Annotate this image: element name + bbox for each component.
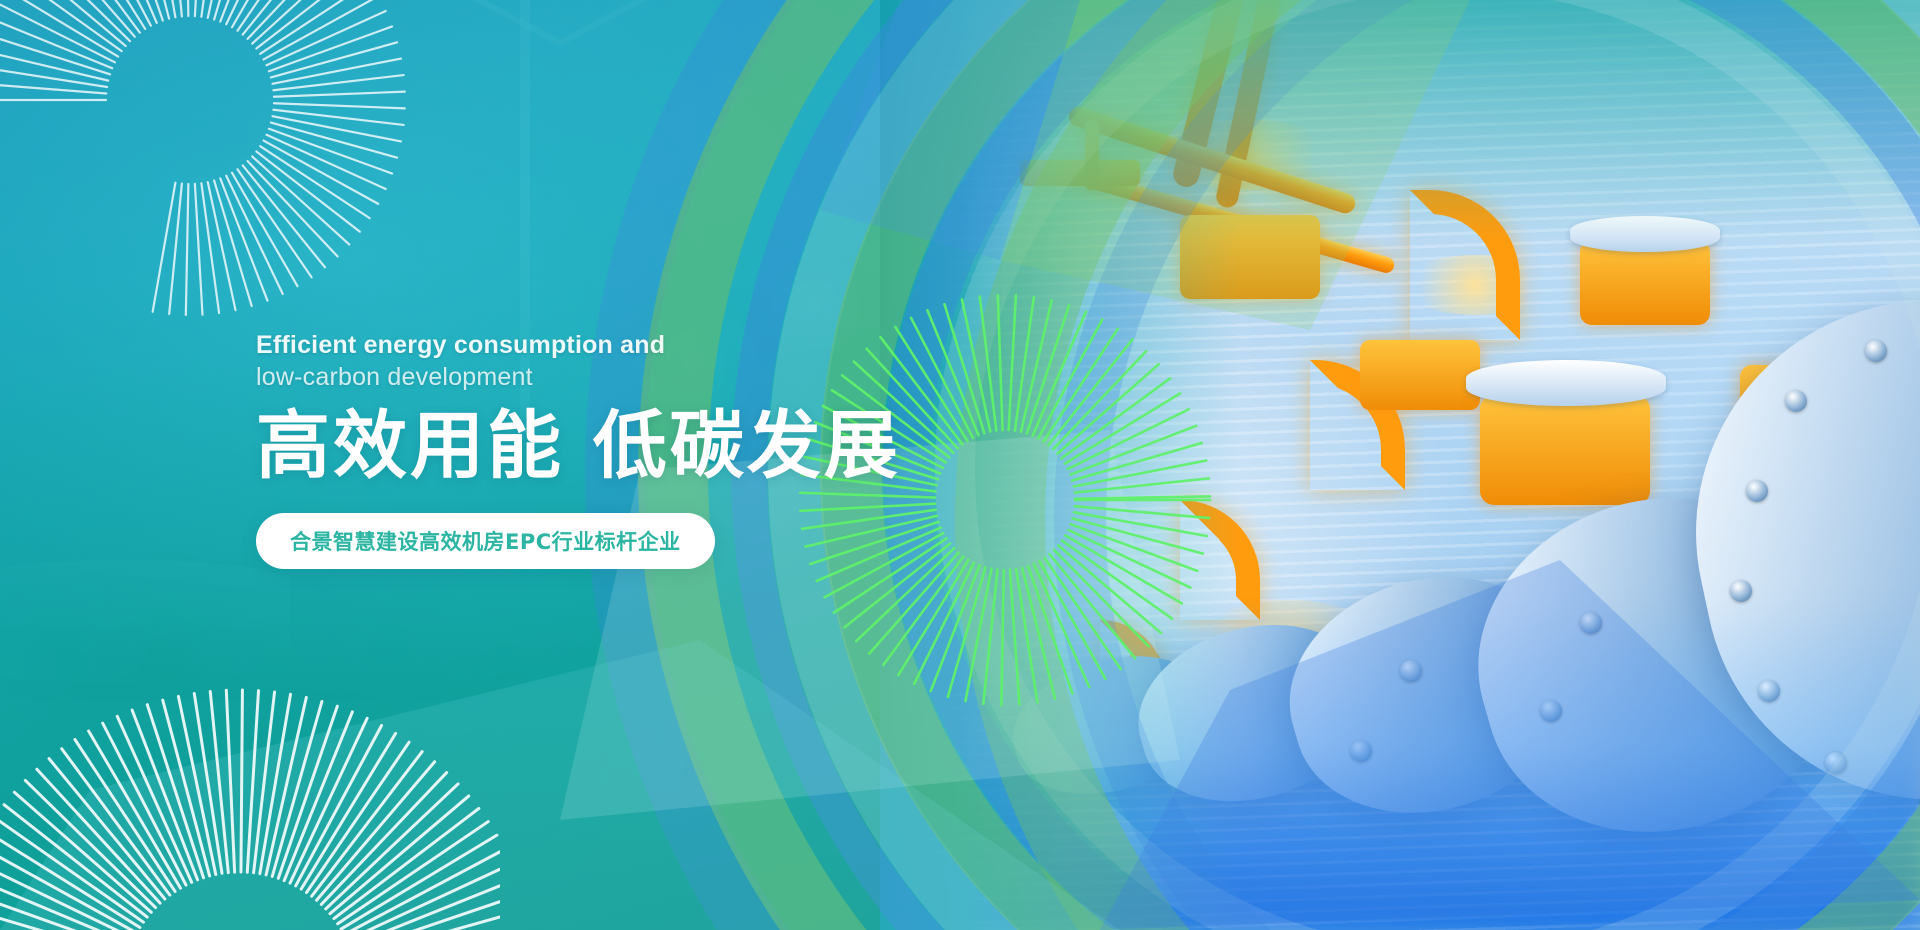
sunburst-ray [1057, 364, 1158, 453]
sunburst-ray [147, 705, 203, 878]
sunburst-ray [1053, 351, 1146, 449]
flange-bolt [1730, 580, 1752, 602]
sunburst-ray [194, 694, 222, 874]
sunburst-ray [1010, 570, 1020, 705]
sunburst-ray [248, 161, 338, 256]
sunburst-ray [1021, 300, 1052, 431]
orange-valve [1480, 395, 1650, 505]
page-title: 高效用能 低碳发展 [256, 407, 1016, 487]
flange-bolt [1746, 480, 1768, 502]
sunburst-ray [264, 141, 379, 204]
sunburst-ray [1015, 297, 1034, 431]
sunburst-ray [186, 184, 189, 315]
orange-valve [1580, 240, 1710, 325]
sunburst-ray [321, 773, 446, 905]
sunburst-ray [75, 740, 175, 892]
sunburst-ray [274, 103, 405, 108]
sunburst-ray [208, 182, 236, 310]
sunburst-ray [201, 183, 219, 313]
pipe-flange [1466, 360, 1666, 406]
sunburst-ray [0, 50, 108, 80]
sunburst-ray [186, 0, 189, 16]
flange-bolt [1785, 390, 1807, 412]
orange-valve [1360, 340, 1480, 410]
ghost-turbine-blade [559, 0, 677, 46]
cta-button[interactable]: 合景智慧建设高效机房EPC行业标杆企业 [256, 513, 715, 569]
sunburst-ray [220, 0, 267, 22]
sunburst-bottom-left-icon [0, 660, 500, 930]
sunburst-ray [274, 92, 405, 97]
sunburst-ray [14, 792, 151, 912]
sunburst-ray [273, 110, 403, 125]
hero-banner: Efficient energy consumption and low-car… [0, 0, 1920, 930]
sunburst-ray [317, 762, 435, 900]
eyebrow-line-1: Efficient energy consumption and [256, 330, 1016, 362]
sunburst-top-left-icon [0, 0, 410, 320]
sunburst-ray [210, 691, 228, 872]
sunburst-ray [278, 706, 337, 878]
sunburst-ray [37, 769, 160, 903]
flange-bolt [1865, 340, 1887, 362]
sunburst-ray [195, 184, 203, 315]
ghost-turbine-blade [444, 0, 562, 46]
sunburst-ray [25, 780, 155, 907]
sunburst-ray [1054, 550, 1149, 646]
sunburst-ray [1075, 478, 1209, 492]
sunburst-ray [983, 570, 997, 704]
sunburst-ray [226, 690, 234, 872]
sunburst-ray [273, 75, 403, 90]
sunburst-ray [1038, 320, 1102, 439]
sunburst-ray [241, 690, 242, 872]
eyebrow-line-2: low-carbon development [256, 362, 1016, 394]
sunburst-ray [1001, 570, 1003, 705]
sunburst-ray [326, 784, 458, 909]
hero-copy: Efficient energy consumption and low-car… [256, 330, 1016, 569]
sunburst-ray [1075, 496, 1210, 498]
sunburst-ray [330, 796, 469, 914]
